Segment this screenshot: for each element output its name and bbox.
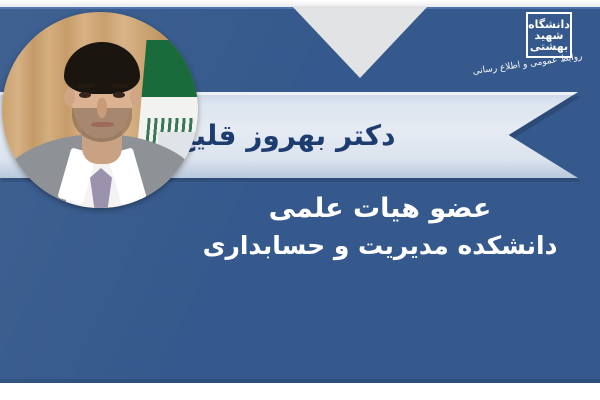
portrait-photo [2,12,198,208]
logo-line-2: شهید [535,30,564,41]
avatar [2,12,198,208]
subtitle-position: عضو هیات علمی [200,190,560,228]
logo-line-3: بهشتی [530,41,568,52]
logo-line-1: دانشگاه [528,19,570,30]
university-logo: دانشگاه شهید بهشتی روابط عمومی و اطلاع ر… [490,6,586,88]
subtitle-block: عضو هیات علمی دانشکده مدیریت و حسابداری [200,190,560,264]
portrait-ear-left [64,88,75,106]
logo-calligraphy-icon: دانشگاه شهید بهشتی [528,14,570,56]
portrait-nose [97,98,107,118]
portrait-eye-right [113,92,125,98]
subtitle-faculty: دانشکده مدیریت و حسابداری [200,228,560,264]
logo-frame-icon: دانشگاه شهید بهشتی [526,12,572,58]
portrait-eye-left [79,92,91,98]
portrait-hair [64,42,140,94]
portrait-mouth [91,122,114,127]
portrait-ear-right [130,88,141,106]
profile-card: دکتر بهروز قلیچ لی عضو هیات علمی دانشکده… [0,0,600,400]
public-relations-script: روابط عمومی و اطلاع رسانی [490,52,585,93]
